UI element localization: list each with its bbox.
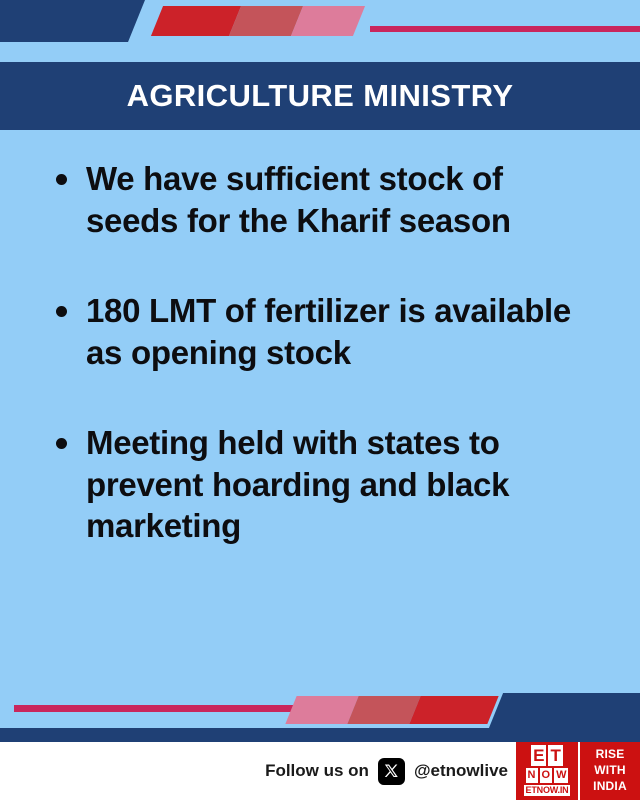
follow-us-group: Follow us on @etnowlive <box>0 742 516 800</box>
list-item: We have sufficient stock of seeds for th… <box>44 158 596 242</box>
bottom-stripe-red <box>409 696 498 724</box>
top-decorative-band <box>0 0 640 62</box>
footer-bar: Follow us on @etnowlive E T N O W ETNOW.… <box>0 742 640 800</box>
etnow-logo: E T N O W ETNOW.IN <box>516 742 578 800</box>
bullet-dot-icon <box>56 438 67 449</box>
bottom-navy-strip <box>0 728 640 742</box>
social-handle[interactable]: @etnowlive <box>414 761 508 781</box>
etnow-logo-et-row: E T <box>531 745 563 766</box>
top-stripe-red <box>151 6 241 36</box>
list-item-text: We have sufficient stock of seeds for th… <box>86 160 511 239</box>
etnow-logo-letter-w: W <box>554 768 568 783</box>
etnow-logo-letter-t: T <box>548 745 562 766</box>
etnow-logo-letter-o: O <box>540 768 553 783</box>
bullet-dot-icon <box>56 174 67 185</box>
page-title: AGRICULTURE MINISTRY <box>127 78 514 114</box>
x-twitter-icon[interactable] <box>378 758 405 785</box>
bullet-list: We have sufficient stock of seeds for th… <box>44 158 596 547</box>
top-stripe-pink <box>291 6 365 36</box>
etnow-logo-letter-n: N <box>526 768 538 783</box>
tagline-line-3: INDIA <box>593 779 627 795</box>
top-navy-wedge <box>0 0 145 42</box>
list-item: Meeting held with states to prevent hoar… <box>44 422 596 548</box>
list-item: 180 LMT of fertilizer is available as op… <box>44 290 596 374</box>
top-crimson-rule <box>370 26 640 32</box>
follow-us-label: Follow us on <box>265 761 369 781</box>
bullet-dot-icon <box>56 306 67 317</box>
tagline-block: RISE WITH INDIA <box>578 742 640 800</box>
tagline-line-2: WITH <box>594 763 625 779</box>
list-item-text: 180 LMT of fertilizer is available as op… <box>86 292 571 371</box>
content-area: We have sufficient stock of seeds for th… <box>0 130 640 685</box>
news-graphic-card: AGRICULTURE MINISTRY We have sufficient … <box>0 0 640 800</box>
bottom-navy-wedge <box>487 693 640 728</box>
tagline-line-1: RISE <box>596 747 625 763</box>
etnow-logo-now-row: N O W <box>526 768 569 783</box>
etnow-logo-letter-e: E <box>531 745 546 766</box>
bottom-decorative-band <box>0 685 640 728</box>
list-item-text: Meeting held with states to prevent hoar… <box>86 424 509 545</box>
etnow-logo-url: ETNOW.IN <box>524 785 571 796</box>
title-bar: AGRICULTURE MINISTRY <box>0 62 640 130</box>
